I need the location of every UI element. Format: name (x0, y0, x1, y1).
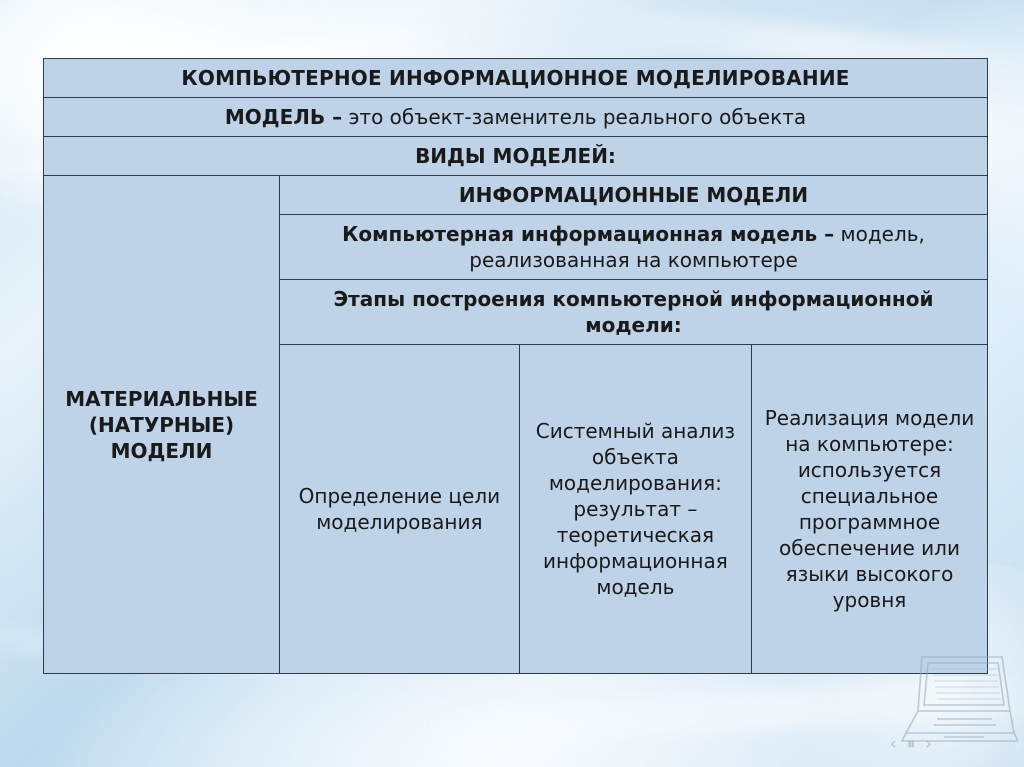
stage-item-1: Определение цели моделирования (280, 345, 520, 674)
content-table-container: КОМПЬЮТЕРНОЕ ИНФОРМАЦИОННОЕ МОДЕЛИРОВАНИ… (43, 58, 988, 674)
material-models-line-1: МАТЕРИАЛЬНЫЕ (54, 386, 269, 412)
table-row-models-split: МАТЕРИАЛЬНЫЕ (НАТУРНЫЕ) МОДЕЛИ ИНФОРМАЦИ… (44, 176, 988, 215)
stage-item-2: Системный анализ объекта моделирования: … (519, 345, 751, 674)
kinds-header: ВИДЫ МОДЕЛЕЙ: (44, 137, 988, 176)
stages-header: Этапы построения компьютерной информацио… (280, 280, 988, 345)
slide-canvas: КОМПЬЮТЕРНОЕ ИНФОРМАЦИОННОЕ МОДЕЛИРОВАНИ… (0, 0, 1024, 767)
material-models-line-3: МОДЕЛИ (54, 438, 269, 464)
model-definition-text: это объект-заменитель реального объекта (342, 105, 806, 129)
table-row-title: КОМПЬЮТЕРНОЕ ИНФОРМАЦИОННОЕ МОДЕЛИРОВАНИ… (44, 59, 988, 98)
material-models-line-2: (НАТУРНЫЕ) (54, 412, 269, 438)
content-table: КОМПЬЮТЕРНОЕ ИНФОРМАЦИОННОЕ МОДЕЛИРОВАНИ… (43, 58, 988, 674)
material-models-cell: МАТЕРИАЛЬНЫЕ (НАТУРНЫЕ) МОДЕЛИ (44, 176, 280, 674)
table-row-kinds-header: ВИДЫ МОДЕЛЕЙ: (44, 137, 988, 176)
slide-title: КОМПЬЮТЕРНОЕ ИНФОРМАЦИОННОЕ МОДЕЛИРОВАНИ… (44, 59, 988, 98)
model-definition-term: МОДЕЛЬ – (225, 105, 342, 129)
model-definition: МОДЕЛЬ – это объект-заменитель реального… (44, 98, 988, 137)
computer-model-term: Компьютерная информационная модель – (342, 222, 834, 246)
information-models-header: ИНФОРМАЦИОННЫЕ МОДЕЛИ (280, 176, 988, 215)
stage-item-3: Реализация модели на компьютере: использ… (751, 345, 987, 674)
table-row-definition: МОДЕЛЬ – это объект-заменитель реального… (44, 98, 988, 137)
computer-model-definition: Компьютерная информационная модель – мод… (280, 215, 988, 280)
laptop-illustration-icon (892, 649, 1018, 753)
